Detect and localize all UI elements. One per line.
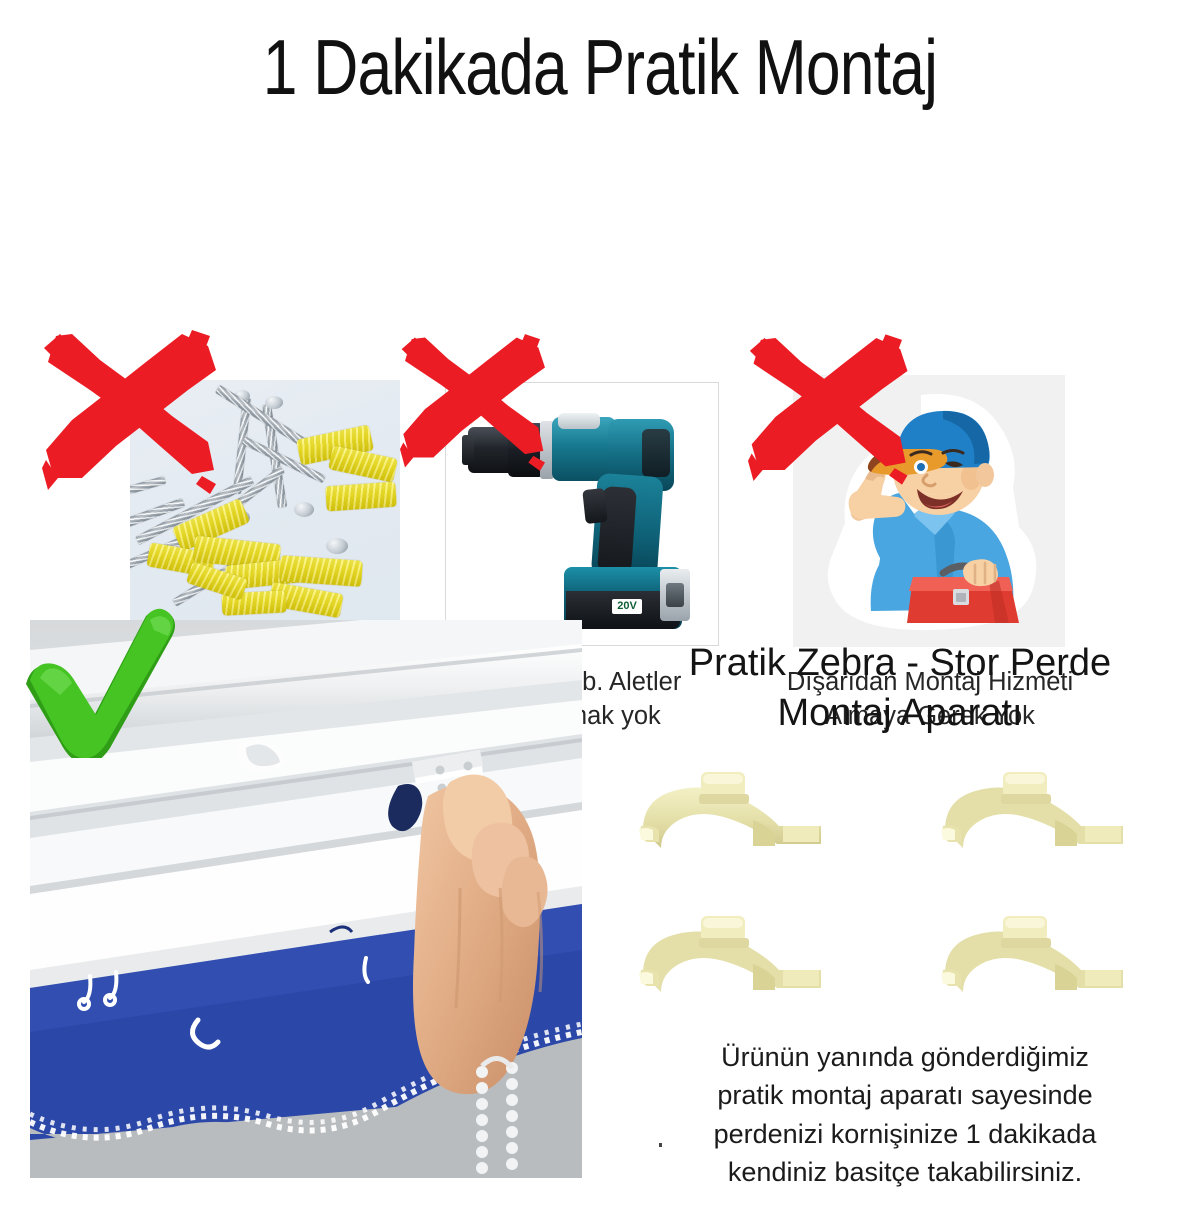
product-description: Ürünün yanında gönderdiğimiz pratik mont…	[620, 1038, 1190, 1191]
page-title: 1 Dakikada Pratik Montaj	[120, 22, 1080, 113]
product-heading: Pratik Zebra - Stor Perde Montaj Aparatı	[600, 638, 1200, 738]
prohibited-items-row: Vida - Dübel gibi malzemeler kullanmak y…	[0, 160, 1200, 590]
handyman-illustration	[793, 375, 1065, 647]
battery-voltage-badge: 20V	[612, 599, 642, 614]
plastic-mounting-bracket	[633, 908, 833, 996]
handyman-cartoon	[793, 375, 1065, 647]
promo-infographic: 1 Dakikada Pratik Montaj	[0, 0, 1200, 1215]
green-check-icon	[18, 608, 178, 763]
plastic-mounting-bracket	[935, 908, 1135, 996]
plastic-mounting-bracket	[633, 764, 833, 852]
cordless-drill-photo: 20V	[445, 382, 719, 646]
plastic-mounting-bracket	[935, 764, 1135, 852]
bracket-gallery	[615, 760, 1195, 1012]
